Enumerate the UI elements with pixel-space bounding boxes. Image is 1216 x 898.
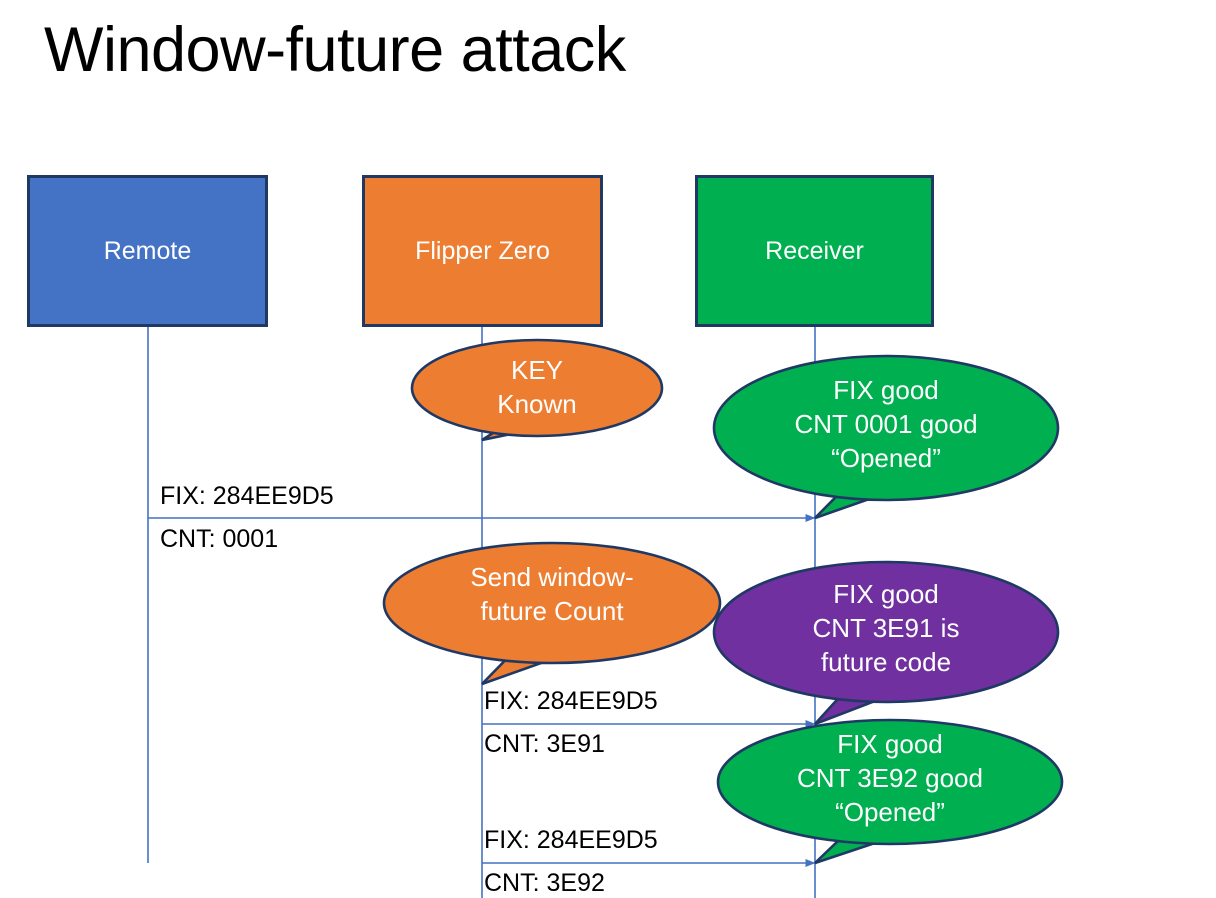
message-3-cnt-label: CNT: 3E92 bbox=[484, 868, 605, 898]
actor-label-remote: Remote bbox=[104, 237, 192, 266]
message-1-cnt-label: CNT: 0001 bbox=[160, 524, 278, 554]
actor-label-receiver: Receiver bbox=[765, 237, 864, 266]
message-1-fix-label: FIX: 284EE9D5 bbox=[160, 481, 334, 511]
actor-box-receiver[interactable]: Receiver bbox=[695, 175, 934, 327]
callout-fix-good-cnt-3e91-future[interactable] bbox=[714, 562, 1058, 724]
callout-key-known[interactable] bbox=[412, 340, 662, 440]
callout-fix-good-cnt-0001[interactable] bbox=[714, 356, 1058, 518]
callout-ellipse-key-known bbox=[412, 340, 662, 436]
message-3-fix-label: FIX: 284EE9D5 bbox=[484, 825, 658, 855]
callout-ellipse-fix-good-cnt-3e91-future bbox=[714, 562, 1058, 702]
actor-label-flipper: Flipper Zero bbox=[415, 237, 550, 266]
callout-shapes-group bbox=[384, 340, 1062, 863]
callout-ellipse-fix-good-cnt-0001 bbox=[714, 356, 1058, 500]
callout-ellipse-send-window-future-count bbox=[384, 543, 720, 663]
callout-fix-good-cnt-3e92[interactable] bbox=[718, 720, 1062, 863]
sequence-diagram bbox=[0, 0, 1216, 898]
message-2-cnt-label: CNT: 3E91 bbox=[484, 729, 605, 759]
message-2-fix-label: FIX: 284EE9D5 bbox=[484, 686, 658, 716]
actor-box-remote[interactable]: Remote bbox=[27, 175, 268, 327]
callout-send-window-future-count[interactable] bbox=[384, 543, 720, 684]
actor-box-flipper[interactable]: Flipper Zero bbox=[362, 175, 603, 327]
callout-ellipse-fix-good-cnt-3e92 bbox=[718, 720, 1062, 844]
slide-canvas: Window-future attack Remote Flipper Zero… bbox=[0, 0, 1216, 898]
